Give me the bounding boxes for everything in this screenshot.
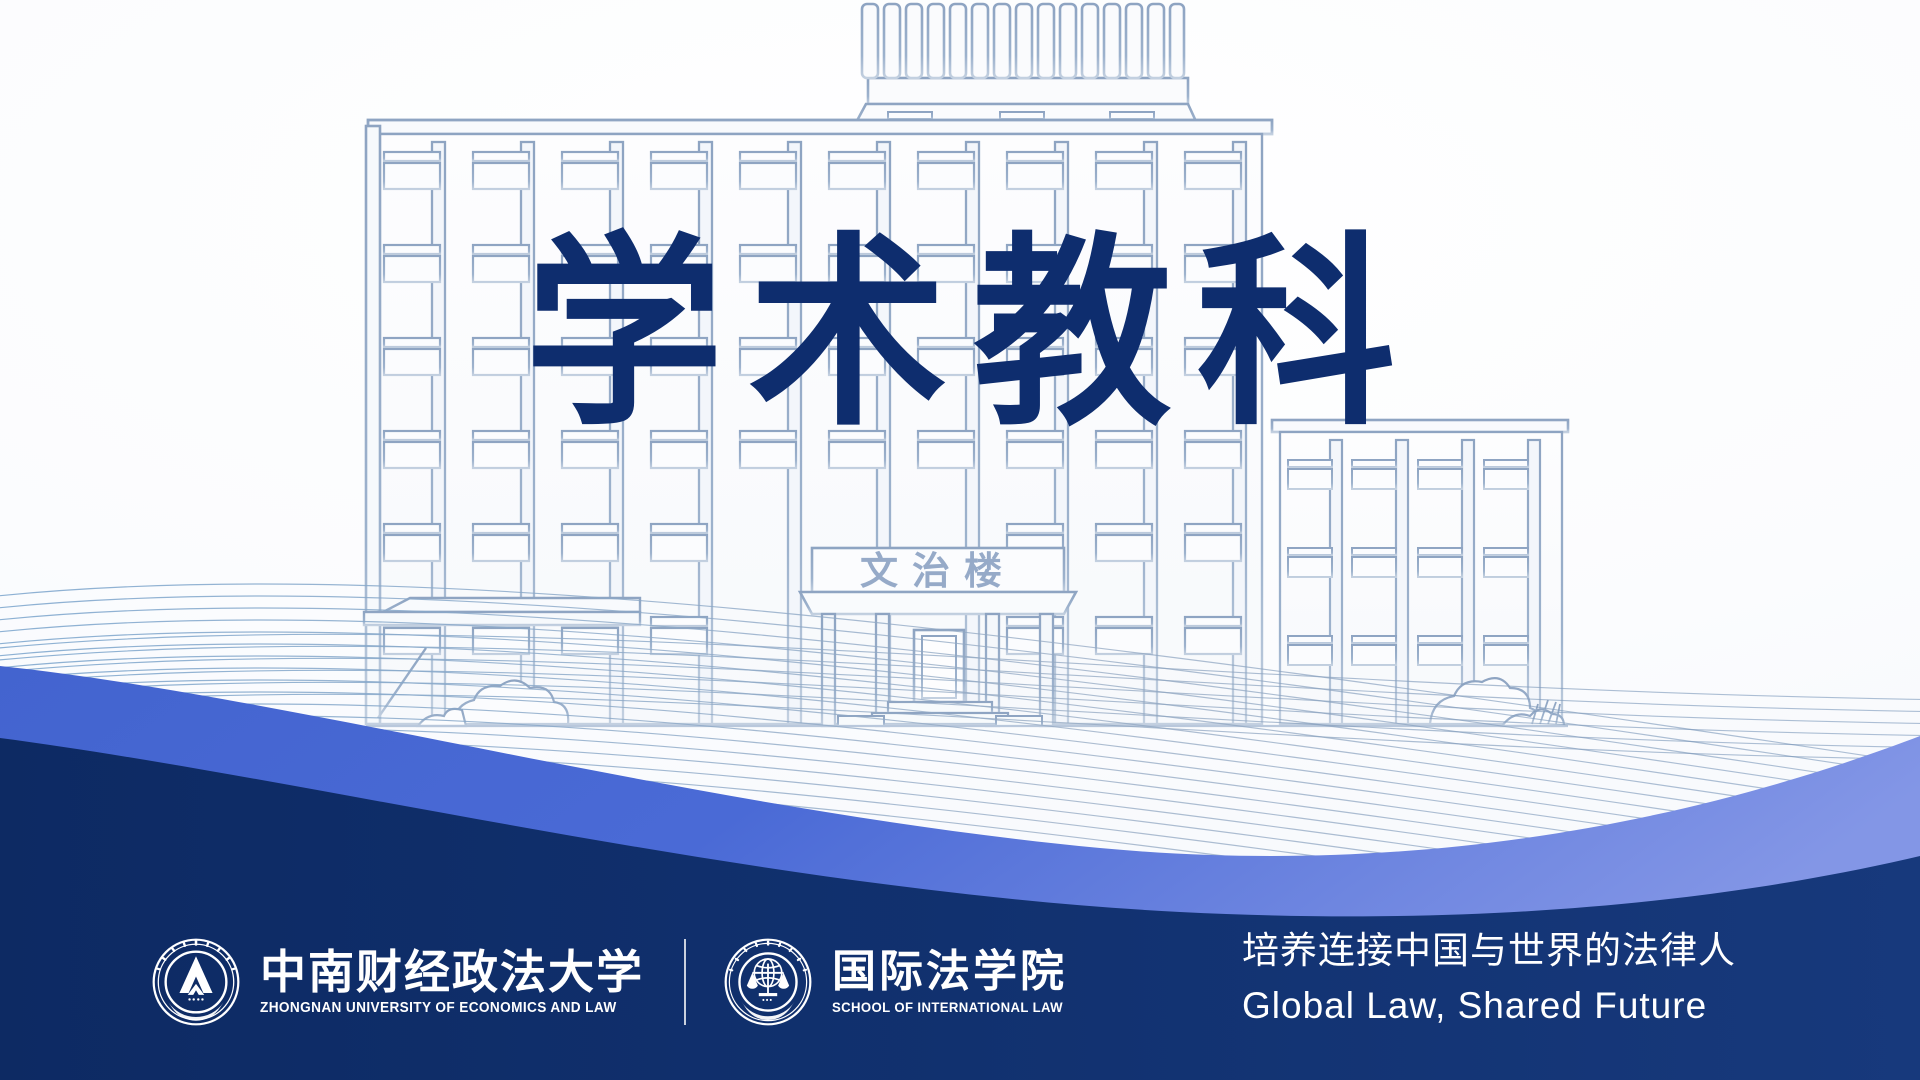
university-text: 中南财经政法大学 ZHONGNAN UNIVERSITY OF ECONOMIC… <box>260 949 644 1016</box>
footer-branding: 中南财经政法大学 ZHONGNAN UNIVERSITY OF ECONOMIC… <box>150 936 1078 1028</box>
school-name-en: SCHOOL OF INTERNATIONAL LAW <box>832 1000 1063 1014</box>
university-name-cn: 中南财经政法大学 <box>260 949 644 995</box>
footer-tagline: 培养连接中国与世界的法律人 Global Law, Shared Future <box>1242 932 1736 1024</box>
tagline-chinese: 培养连接中国与世界的法律人 <box>1242 932 1736 969</box>
zuel-emblem-icon <box>150 936 242 1028</box>
brand-divider <box>684 939 686 1025</box>
school-brand: 国际法学院 SCHOOL OF INTERNATIONAL LAW <box>722 936 1078 1028</box>
university-name-en: ZHONGNAN UNIVERSITY OF ECONOMICS AND LAW <box>260 1001 621 1016</box>
footer-bar: 中南财经政法大学 ZHONGNAN UNIVERSITY OF ECONOMIC… <box>0 830 1920 1080</box>
school-name-cn: 国际法学院 <box>832 950 1078 994</box>
school-text: 国际法学院 SCHOOL OF INTERNATIONAL LAW <box>832 950 1078 1014</box>
presentation-slide: 文治楼 <box>0 0 1920 1080</box>
sil-emblem-icon <box>722 936 814 1028</box>
university-brand: 中南财经政法大学 ZHONGNAN UNIVERSITY OF ECONOMIC… <box>150 936 644 1028</box>
tagline-english: Global Law, Shared Future <box>1242 987 1736 1024</box>
